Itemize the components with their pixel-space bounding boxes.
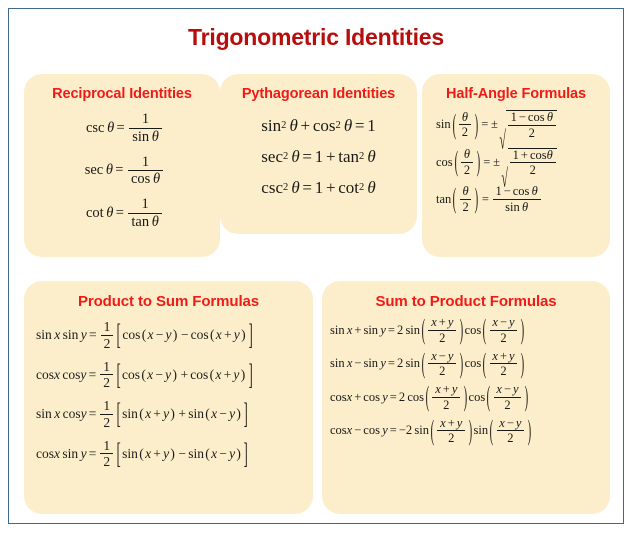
- numerator: 1: [100, 439, 113, 454]
- fn-cos: cos: [513, 184, 530, 198]
- panel-title-half-angle: Half-Angle Formulas: [422, 86, 610, 102]
- left-bracket: [: [115, 397, 121, 432]
- numerator: 1: [100, 399, 113, 414]
- left-paren: (: [138, 446, 145, 462]
- right-paren: ): [169, 406, 176, 422]
- right-paren: ): [239, 367, 246, 383]
- parentheses: ( x+y ): [208, 367, 246, 383]
- formula-cot: cot θ = 1 tanθ: [80, 197, 164, 230]
- fn-sin: sin: [363, 356, 378, 371]
- numerator: θ: [461, 148, 473, 162]
- denominator: 2: [436, 364, 448, 378]
- formula-half-angle-tan: tan ( θ 2 ) = 1−cosθ: [436, 185, 542, 214]
- right-paren: ): [240, 327, 247, 343]
- var-theta: θ: [529, 184, 537, 198]
- radicand: 1+cosθ 2: [508, 148, 557, 178]
- brackets: [ cos ( x−y ) + cos (: [115, 367, 254, 383]
- denominator: 2: [445, 431, 457, 445]
- numerator: 1−cosθ: [493, 185, 541, 199]
- fn-csc: csc: [261, 178, 283, 198]
- op-plus: +: [352, 323, 363, 338]
- numerator: x+y: [490, 350, 518, 364]
- op-minus: −: [154, 327, 166, 343]
- value-one: 1: [513, 148, 519, 162]
- denominator: 2: [502, 398, 514, 412]
- var-y: y: [378, 356, 386, 371]
- op-plus: +: [323, 178, 338, 198]
- brackets: [ sin ( x+y ) + sin (: [115, 406, 249, 422]
- radical-sign: √: [501, 135, 508, 193]
- denominator: 2: [440, 398, 452, 412]
- trig-identities-poster: Trigonometric Identities Reciprocal Iden…: [0, 0, 632, 535]
- op-equals: =: [388, 390, 399, 405]
- panel-title-pythagorean: Pythagorean Identities: [220, 86, 417, 102]
- poster-frame: Trigonometric Identities Reciprocal Iden…: [8, 8, 624, 524]
- fn-cos: cos: [330, 423, 347, 438]
- panel-pythagorean-identities: Pythagorean Identities sin2 θ + cos2 θ =…: [220, 74, 417, 234]
- formula-sinx-cosy: sinx cosy = 1 2 [ sin (: [36, 399, 249, 430]
- fn-cos: cos: [60, 367, 80, 383]
- panel-title-sum-to-product: Sum to Product Formulas: [322, 293, 610, 310]
- var-x: x: [431, 349, 437, 363]
- formula-sinx-siny: sinx siny = 1 2 [ cos (: [36, 320, 254, 351]
- var-y: y: [509, 349, 515, 363]
- fn-cos: cos: [60, 406, 80, 422]
- fn-sin: sin: [132, 129, 149, 145]
- op-minus: −: [502, 382, 513, 396]
- fn-cos: cos: [36, 367, 54, 383]
- fn-cos: cos: [363, 390, 380, 405]
- fn-sin: sin: [122, 406, 138, 422]
- fn-cos: cos: [131, 171, 150, 187]
- op-equals: =: [388, 423, 399, 438]
- parentheses: ( x−y ): [140, 367, 178, 383]
- denominator: 2: [461, 163, 473, 177]
- op-minus: −: [498, 315, 509, 329]
- var-theta: θ: [341, 116, 352, 136]
- fraction: x−y 2: [497, 417, 525, 446]
- formula-list-pythagorean: sin2 θ + cos2 θ = 1 sec2 θ = 1 + tan2 θ: [220, 116, 417, 198]
- op-equals: =: [352, 116, 367, 136]
- fn-cos: cos: [530, 148, 547, 162]
- fn-cos: cos: [528, 110, 545, 124]
- right-bracket: ]: [243, 397, 249, 432]
- left-paren: (: [209, 327, 216, 343]
- op-plus: +: [151, 406, 163, 422]
- left-paren: (: [140, 367, 147, 383]
- fn-sin: sin: [330, 356, 345, 371]
- op-minus: −: [437, 349, 448, 363]
- op-equals: =: [113, 162, 126, 179]
- fraction: 1−cosθ 2: [508, 111, 556, 140]
- op-equals: =: [113, 205, 126, 222]
- panel-half-angle-formulas: Half-Angle Formulas sin ( θ 2 ) =: [422, 74, 610, 257]
- var-y: y: [78, 446, 86, 462]
- numerator: x−y: [490, 316, 518, 330]
- fraction-one-half: 1 2: [100, 439, 113, 470]
- fn-sin: sin: [60, 446, 78, 462]
- var-theta: θ: [149, 129, 159, 145]
- bracket-content: cos ( x−y ) − cos ( x+y ): [122, 327, 247, 343]
- left-paren: (: [489, 399, 495, 463]
- formula-cosx-minus-cosy: cosx − cosy = −2 sin ( x+y 2: [330, 417, 533, 446]
- value-one: 1: [367, 116, 376, 136]
- formula-sec2: sec2 θ = 1 + tan2 θ: [261, 147, 375, 167]
- numerator: 1: [138, 197, 152, 213]
- denominator: sinθ: [129, 129, 162, 145]
- parentheses: ( θ 2 ): [451, 185, 480, 214]
- var-x: x: [440, 416, 446, 430]
- left-bracket: [: [115, 357, 121, 392]
- right-paren: ): [171, 367, 178, 383]
- fn-cos: cos: [465, 323, 482, 338]
- numerator: 1: [139, 112, 153, 128]
- denominator: 2: [460, 200, 472, 214]
- var-x: x: [345, 356, 353, 371]
- fraction: x+y 2: [428, 316, 456, 345]
- fn-tan: tan: [436, 192, 451, 207]
- fn-cos: cos: [190, 367, 208, 383]
- right-paren: ): [171, 327, 178, 343]
- fraction: x+y 2: [490, 350, 518, 379]
- op-minus: −: [352, 423, 363, 438]
- fn-sin: sin: [36, 406, 52, 422]
- fraction: 1 cosθ: [128, 155, 163, 188]
- left-paren: (: [452, 167, 458, 231]
- fn-cot: cot: [338, 178, 359, 198]
- op-plus-minus: ±: [492, 155, 500, 170]
- fn-cos: cos: [313, 116, 336, 136]
- numerator: θ: [459, 111, 471, 125]
- var-theta: θ: [547, 148, 553, 162]
- fraction: θ 2: [459, 111, 471, 140]
- fn-csc: csc: [86, 120, 105, 137]
- denominator: 2: [100, 454, 113, 469]
- op-minus: −: [517, 110, 528, 124]
- left-paren: (: [138, 406, 145, 422]
- fraction: x+y 2: [432, 383, 460, 412]
- right-bracket: ]: [243, 436, 249, 471]
- left-paren: (: [204, 446, 211, 462]
- var-theta: θ: [149, 214, 159, 230]
- fn-tan: tan: [338, 147, 359, 167]
- denominator: 2: [101, 336, 114, 351]
- var-y: y: [513, 382, 519, 396]
- op-equals: =: [300, 147, 315, 167]
- parentheses: ( x−y ): [140, 327, 178, 343]
- left-paren: (: [430, 399, 436, 463]
- op-plus: +: [176, 406, 188, 422]
- op-equals: =: [114, 120, 127, 137]
- op-minus: −: [153, 367, 165, 383]
- numerator: 1−cosθ: [508, 111, 556, 125]
- var-y: y: [78, 327, 86, 343]
- numerator: x−y: [497, 417, 525, 431]
- var-theta: θ: [288, 147, 299, 167]
- fraction: 1 tanθ: [128, 197, 162, 230]
- fraction: θ 2: [460, 185, 472, 214]
- op-plus: +: [298, 116, 313, 136]
- fraction-one-half: 1 2: [100, 360, 113, 391]
- op-plus: +: [151, 446, 163, 462]
- fn-cos: cos: [122, 327, 140, 343]
- fn-sin: sin: [330, 323, 345, 338]
- formula-csc: csc θ = 1 sinθ: [80, 112, 164, 145]
- formula-csc2: csc2 θ = 1 + cot2 θ: [261, 178, 375, 198]
- op-equals: =: [481, 155, 492, 170]
- numerator: x+y: [437, 417, 465, 431]
- op-plus: +: [519, 148, 530, 162]
- fn-cos: cos: [330, 390, 347, 405]
- fraction: x+y 2: [437, 417, 465, 446]
- numerator: x−y: [428, 350, 456, 364]
- denominator: cosθ: [128, 171, 163, 187]
- fn-sin: sin: [122, 446, 138, 462]
- numerator: 1: [100, 360, 113, 375]
- fn-cot: cot: [86, 205, 104, 222]
- fraction: x−y 2: [494, 383, 522, 412]
- formula-sec: sec θ = 1 cosθ: [79, 155, 166, 188]
- left-paren: (: [140, 327, 147, 343]
- value-one: 1: [511, 110, 517, 124]
- denominator: 2: [100, 415, 113, 430]
- op-equals: =: [386, 323, 397, 338]
- value-one: 1: [315, 147, 324, 167]
- left-paren: (: [204, 406, 211, 422]
- right-bracket: ]: [247, 357, 253, 392]
- op-minus: −: [352, 356, 363, 371]
- op-minus: −: [399, 423, 406, 438]
- var-y: y: [448, 315, 454, 329]
- parentheses: ( x+y ): [138, 406, 176, 422]
- var-theta: θ: [150, 171, 160, 187]
- numerator: x+y: [428, 316, 456, 330]
- numerator: 1: [101, 320, 114, 335]
- fn-sin: sin: [403, 356, 420, 371]
- op-plus: +: [437, 315, 448, 329]
- parentheses: ( x+y 2 ): [429, 417, 474, 446]
- fraction: x−y 2: [490, 316, 518, 345]
- right-paren: ): [235, 446, 242, 462]
- denominator: 2: [459, 125, 471, 139]
- var-theta: θ: [104, 120, 114, 137]
- numerator: 1+cosθ: [510, 149, 556, 163]
- panel-sum-to-product-formulas: Sum to Product Formulas sinx + siny = 2 …: [322, 281, 610, 514]
- numerator: x−y: [494, 383, 522, 397]
- var-x: x: [431, 315, 437, 329]
- fn-sin: sin: [188, 446, 204, 462]
- fn-cos: cos: [191, 327, 209, 343]
- parentheses: ( x+y ): [209, 327, 247, 343]
- denominator: 2: [436, 331, 448, 345]
- fn-cos: cos: [436, 155, 453, 170]
- fn-cos: cos: [36, 446, 54, 462]
- var-theta: θ: [545, 110, 553, 124]
- fn-sin: sin: [436, 117, 451, 132]
- radicand: 1−cosθ 2: [506, 110, 557, 140]
- var-y: y: [516, 416, 522, 430]
- fraction: 1 sinθ: [129, 112, 162, 145]
- fn-sin: sin: [403, 323, 420, 338]
- formula-list-product-to-sum: sinx siny = 1 2 [ cos (: [24, 320, 313, 469]
- denominator: 2: [526, 126, 538, 140]
- var-theta: θ: [520, 200, 528, 214]
- panel-title-reciprocal: Reciprocal Identities: [24, 86, 220, 102]
- brackets: [ sin ( x+y ) − sin (: [115, 446, 249, 462]
- fn-cos: cos: [122, 367, 140, 383]
- var-y: y: [509, 315, 515, 329]
- op-equals: =: [86, 367, 98, 383]
- fn-tan: tan: [131, 214, 149, 230]
- fn-sin: sin: [188, 406, 204, 422]
- denominator: tanθ: [128, 214, 162, 230]
- left-bracket: [: [116, 318, 122, 353]
- op-equals: =: [386, 356, 397, 371]
- fn-sec: sec: [261, 147, 283, 167]
- formula-cosx-siny: cosx siny = 1 2 [ sin (: [36, 439, 249, 470]
- right-paren: ): [235, 406, 242, 422]
- formula-list-sum-to-product: sinx + siny = 2 sin ( x+y 2: [322, 316, 610, 445]
- var-x: x: [345, 323, 353, 338]
- op-plus: +: [352, 390, 363, 405]
- var-y: y: [378, 323, 386, 338]
- panel-product-to-sum-formulas: Product to Sum Formulas sinx siny = 1 2 …: [24, 281, 313, 514]
- formula-list-half-angle: sin ( θ 2 ) = ± √: [422, 110, 610, 214]
- op-equals: =: [87, 406, 99, 422]
- fn-sin: sin: [363, 323, 378, 338]
- fraction: 1+cosθ 2: [510, 149, 556, 178]
- op-plus: +: [221, 367, 233, 383]
- op-minus: −: [179, 327, 191, 343]
- value-one: 1: [315, 178, 324, 198]
- denominator: sinθ: [502, 200, 530, 214]
- var-x: x: [52, 327, 60, 343]
- op-minus: −: [217, 446, 229, 462]
- var-x: x: [435, 382, 441, 396]
- right-paren: ): [169, 446, 176, 462]
- right-bracket: ]: [247, 318, 253, 353]
- op-equals: =: [87, 446, 99, 462]
- brackets: [ cos ( x−y ) − cos (: [115, 327, 254, 343]
- fn-cos: cos: [363, 423, 380, 438]
- op-plus: +: [178, 367, 190, 383]
- parentheses: ( x+y ): [138, 446, 176, 462]
- var-y: y: [452, 382, 458, 396]
- numerator: 1: [139, 155, 153, 171]
- var-theta: θ: [104, 205, 114, 222]
- op-equals: =: [87, 327, 99, 343]
- left-bracket: [: [115, 436, 121, 471]
- numerator: x+y: [432, 383, 460, 397]
- op-equals: =: [300, 178, 315, 198]
- denominator: 2: [505, 431, 517, 445]
- formula-sin2-cos2: sin2 θ + cos2 θ = 1: [261, 116, 375, 136]
- formula-sinx-plus-siny: sinx + siny = 2 sin ( x+y 2: [330, 316, 526, 345]
- left-paren: (: [208, 367, 215, 383]
- denominator: 2: [498, 331, 510, 345]
- formula-cosx-cosy: cosx cosy = 1 2 [ cos (: [36, 360, 254, 391]
- right-paren: ): [474, 167, 480, 231]
- bracket-content: sin ( x+y ) − sin ( x−y ): [122, 446, 242, 462]
- formula-list-reciprocal: csc θ = 1 sinθ sec θ =: [24, 112, 220, 230]
- fn-sin: sin: [261, 116, 281, 136]
- fn-sin: sin: [505, 200, 520, 214]
- bracket-content: cos ( x−y ) + cos ( x+y ): [122, 367, 247, 383]
- denominator: 2: [100, 375, 113, 390]
- op-plus: +: [446, 416, 457, 430]
- fraction-one-half: 1 2: [101, 320, 114, 351]
- op-minus: −: [217, 406, 229, 422]
- denominator: 2: [498, 364, 510, 378]
- parentheses: ( x−y 2 ): [488, 417, 533, 446]
- fraction: 1−cosθ sinθ: [493, 185, 541, 214]
- var-theta: θ: [103, 162, 113, 179]
- fraction-one-half: 1 2: [100, 399, 113, 430]
- numerator: θ: [460, 185, 472, 199]
- panel-reciprocal-identities: Reciprocal Identities csc θ = 1 sinθ: [24, 74, 220, 257]
- parentheses: ( x−y ): [204, 446, 242, 462]
- fraction: x−y 2: [428, 350, 456, 379]
- op-minus: −: [176, 446, 188, 462]
- op-plus-minus: ±: [490, 117, 498, 132]
- var-y: y: [448, 349, 454, 363]
- var-theta: θ: [364, 147, 375, 167]
- var-theta: θ: [288, 178, 299, 198]
- right-paren: ): [467, 399, 473, 463]
- op-plus: +: [222, 327, 234, 343]
- var-theta: θ: [364, 178, 375, 198]
- denominator: 2: [527, 163, 539, 177]
- var-theta: θ: [286, 116, 297, 136]
- fraction: θ 2: [461, 148, 473, 177]
- page-title: Trigonometric Identities: [9, 24, 623, 51]
- var-y: y: [380, 423, 388, 438]
- op-plus: +: [441, 382, 452, 396]
- op-minus: −: [505, 416, 516, 430]
- square-root: √ 1+cosθ 2: [501, 148, 558, 178]
- right-paren: ): [526, 399, 532, 463]
- bracket-content: sin ( x+y ) + sin ( x−y ): [122, 406, 242, 422]
- op-plus: +: [498, 349, 509, 363]
- op-equals: =: [480, 192, 491, 207]
- fn-sin: sin: [36, 327, 52, 343]
- op-plus: +: [323, 147, 338, 167]
- var-y: y: [380, 390, 388, 405]
- fn-sin: sin: [60, 327, 78, 343]
- panel-title-product-to-sum: Product to Sum Formulas: [24, 293, 313, 310]
- parentheses: ( x−y ): [204, 406, 242, 422]
- fn-sec: sec: [85, 162, 104, 179]
- var-x: x: [52, 406, 60, 422]
